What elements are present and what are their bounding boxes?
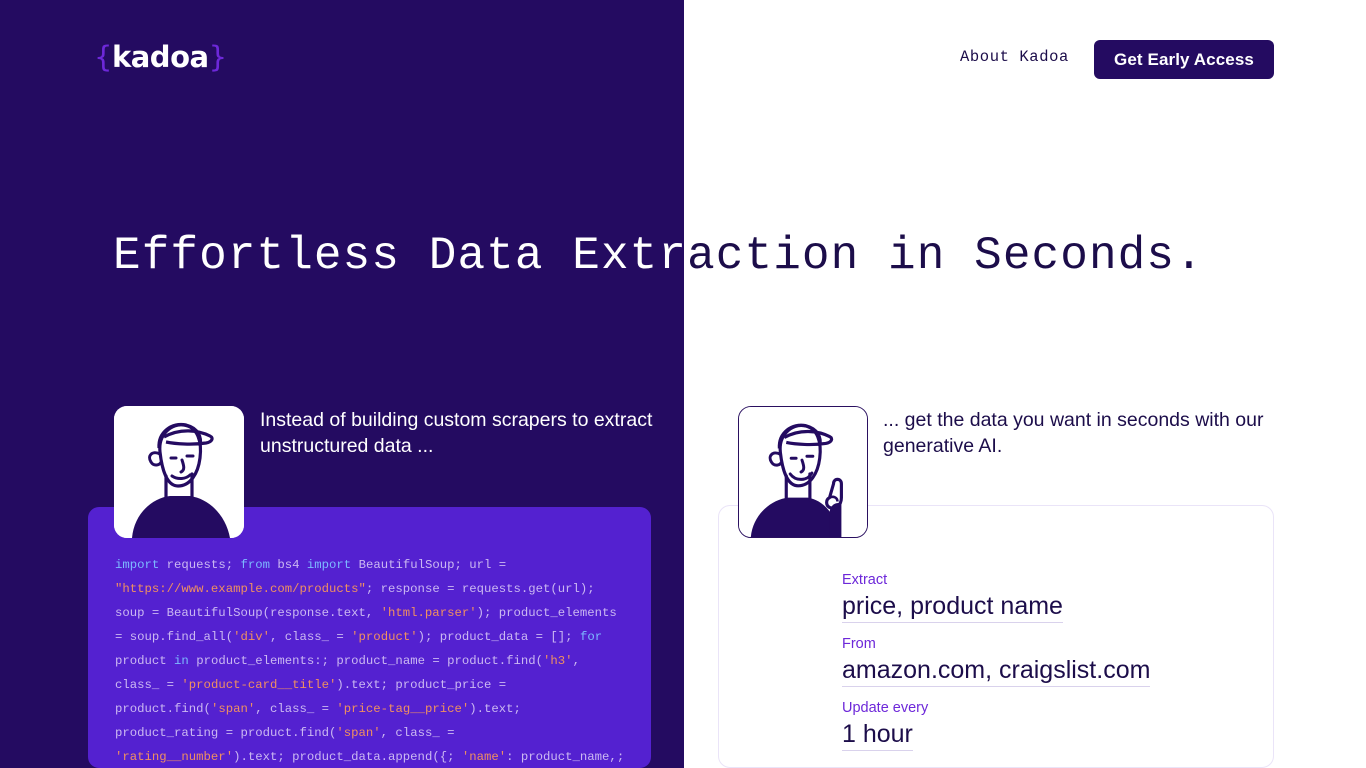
extraction-config-card: Extract price, product name From amazon.…	[718, 505, 1274, 768]
field-update-every-value[interactable]: 1 hour	[842, 719, 913, 751]
avatar-person-pointing-up	[738, 406, 868, 538]
field-extract-label: Extract	[842, 571, 1242, 590]
logo-close-brace: }	[209, 40, 227, 74]
code-snippet-text: import requests; from bs4 import Beautif…	[115, 553, 627, 768]
left-panel-description: Instead of building custom scrapers to e…	[260, 407, 660, 459]
field-from-label: From	[842, 635, 1242, 654]
kadoa-logo[interactable]: {kadoa}	[94, 38, 227, 76]
field-from-value[interactable]: amazon.com, craigslist.com	[842, 655, 1150, 687]
nav-link-about-kadoa[interactable]: About Kadoa	[960, 48, 1069, 66]
site-header: {kadoa} About Kadoa Get Early Access	[0, 0, 1366, 118]
logo-open-brace: {	[94, 40, 112, 74]
hero-heading: Effortless Data Extraction in Seconds. E…	[0, 225, 1366, 295]
right-panel-description: ... get the data you want in seconds wit…	[883, 407, 1303, 459]
landing-page: {kadoa} About Kadoa Get Early Access Eff…	[0, 0, 1366, 768]
get-early-access-button[interactable]: Get Early Access	[1094, 40, 1274, 79]
code-snippet-panel: import requests; from bs4 import Beautif…	[88, 507, 651, 768]
field-update-every: Update every 1 hour	[842, 699, 1242, 751]
avatar-person-with-cap	[114, 406, 244, 538]
field-extract-value[interactable]: price, product name	[842, 591, 1063, 623]
logo-wordmark: kadoa	[112, 40, 209, 74]
field-extract: Extract price, product name	[842, 571, 1242, 623]
field-update-every-label: Update every	[842, 699, 1242, 718]
field-from: From amazon.com, craigslist.com	[842, 635, 1242, 687]
